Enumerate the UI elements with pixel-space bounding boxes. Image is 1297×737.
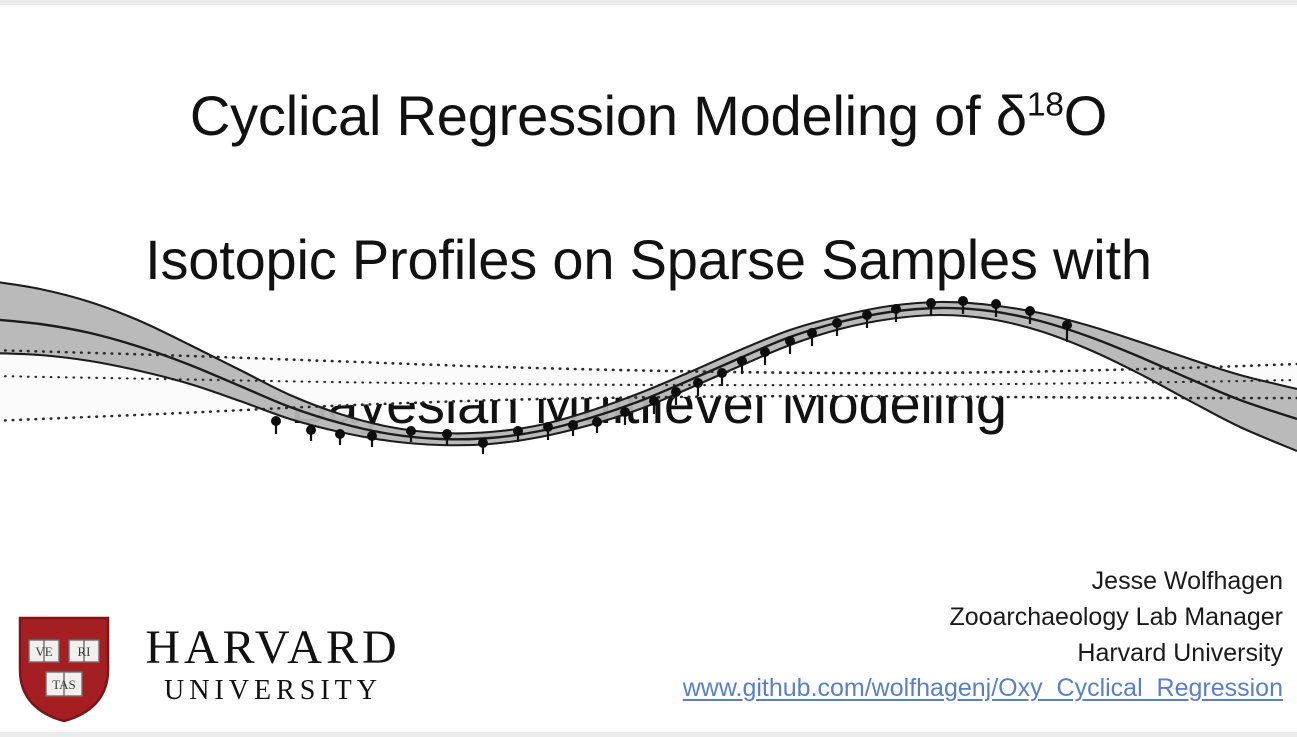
observation-point	[271, 416, 281, 434]
observation-point	[478, 438, 488, 454]
harvard-logo: VE RI TAS HARVARD UNIVERSITY	[16, 614, 416, 724]
observation-marker	[513, 426, 523, 436]
observation-marker	[807, 328, 817, 338]
observation-point	[306, 425, 316, 441]
shield-svg: VE RI TAS	[16, 614, 112, 724]
observation-marker	[832, 318, 842, 328]
observation-marker	[926, 298, 936, 308]
observation-marker	[891, 304, 901, 314]
observation-marker	[620, 407, 630, 417]
slide-top-edge-strip	[0, 0, 1297, 5]
observation-point	[592, 417, 602, 433]
chart-svg	[0, 255, 1297, 515]
presentation-slide: Cyclical Regression Modeling of δ18O Iso…	[0, 0, 1297, 737]
observation-marker	[271, 416, 281, 426]
observation-point	[335, 429, 345, 445]
shield-book-ri-label: RI	[78, 644, 91, 659]
observation-marker	[568, 420, 578, 430]
author-role: Zooarchaeology Lab Manager	[583, 599, 1283, 635]
wordmark-harvard: HARVARD	[128, 622, 418, 674]
observation-marker	[671, 387, 681, 397]
harvard-wordmark: HARVARD UNIVERSITY	[128, 622, 418, 708]
shield-book-tas: TAS	[46, 672, 82, 696]
shield-book-tas-label: TAS	[52, 677, 76, 692]
shield-book-ve-label: VE	[35, 644, 52, 659]
observation-marker	[760, 347, 770, 357]
cyclical-fit-lines	[0, 281, 1297, 451]
observation-point	[367, 431, 377, 447]
title-line-1-suffix: O	[1064, 84, 1107, 147]
shield-body	[20, 618, 108, 721]
observation-marker	[592, 417, 602, 427]
title-line-1-text: Cyclical Regression Modeling of δ	[190, 84, 1027, 147]
repository-link[interactable]: www.github.com/wolfhagenj/Oxy_Cyclical_R…	[683, 672, 1283, 704]
slide-bottom-edge-strip	[0, 732, 1297, 737]
title-line-1: Cyclical Regression Modeling of δ18O	[0, 80, 1297, 152]
author-institution: Harvard University	[583, 635, 1283, 671]
observation-marker	[367, 431, 377, 441]
shield-book-ri: RI	[69, 640, 99, 662]
observation-marker	[1025, 306, 1035, 316]
observation-point	[568, 420, 578, 436]
observation-marker	[478, 438, 488, 448]
observation-marker	[958, 296, 968, 306]
harvard-shield-icon: VE RI TAS	[16, 614, 112, 724]
observation-marker	[442, 429, 452, 439]
observation-marker	[406, 426, 416, 436]
shield-book-ve: VE	[29, 640, 59, 662]
observation-marker	[862, 310, 872, 320]
observation-marker	[693, 378, 703, 388]
observation-marker	[737, 356, 747, 366]
observation-marker	[306, 425, 316, 435]
observation-marker	[785, 336, 795, 346]
author-block: Jesse Wolfhagen Zooarchaeology Lab Manag…	[583, 563, 1283, 671]
author-name: Jesse Wolfhagen	[583, 563, 1283, 599]
observation-marker	[991, 299, 1001, 309]
observation-marker	[649, 396, 659, 406]
cyclical-regression-chart	[0, 255, 1297, 515]
observation-marker	[335, 429, 345, 439]
observation-marker	[543, 422, 553, 432]
observation-marker	[717, 368, 727, 378]
observation-marker	[1062, 320, 1072, 330]
wordmark-university: UNIVERSITY	[128, 674, 418, 708]
title-superscript-18: 18	[1027, 86, 1064, 123]
